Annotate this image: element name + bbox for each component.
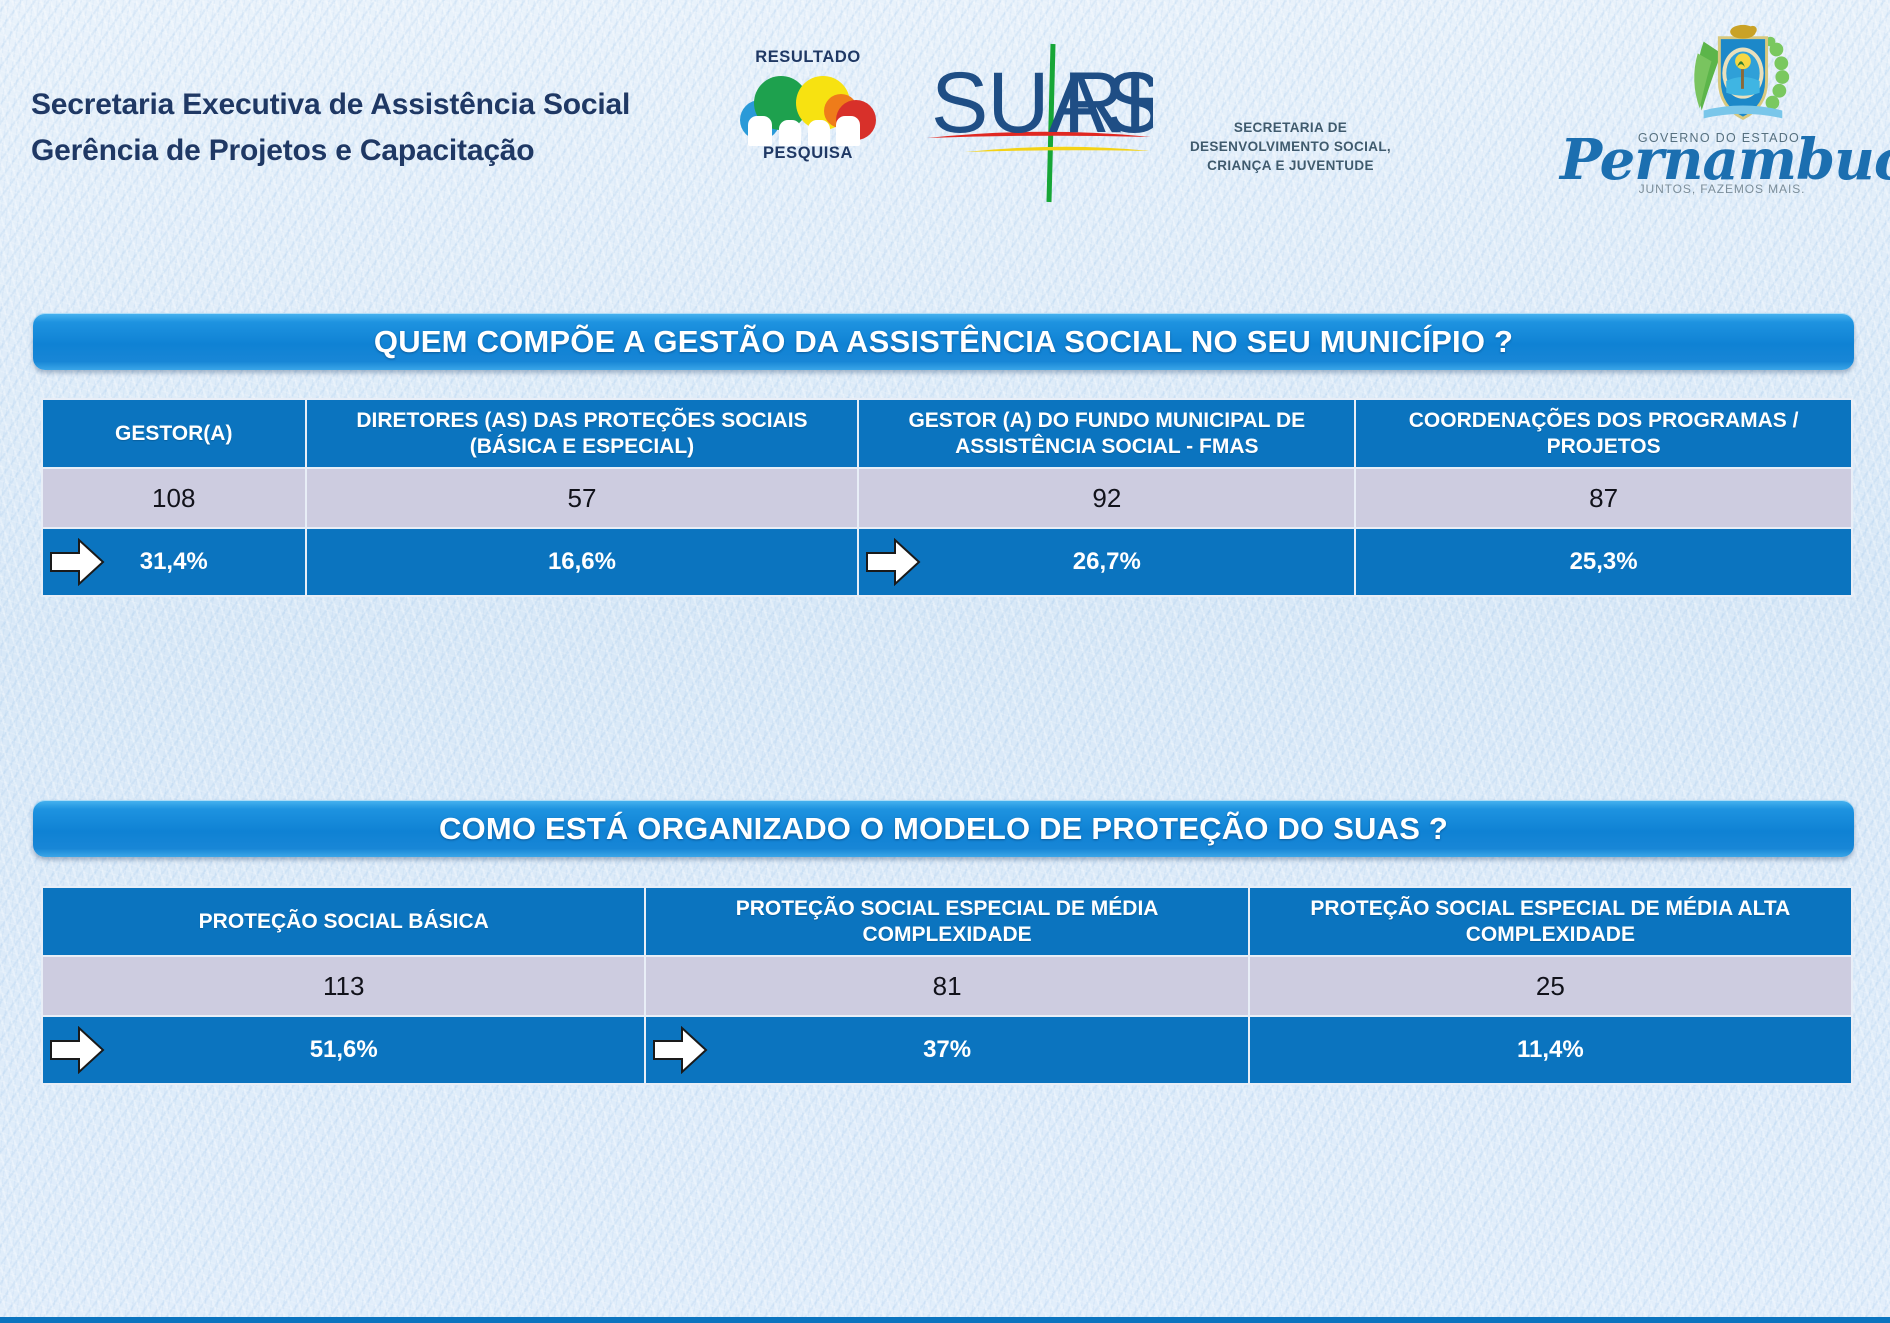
slide-header: Secretaria Executiva de Assistência Soci…: [0, 0, 1890, 240]
count-protecao-alta: 25: [1249, 956, 1852, 1016]
percent-gestor-fmas: 26,7%: [858, 528, 1355, 596]
table-row-counts: 108 57 92 87: [42, 468, 1852, 528]
percent-protecao-media: 37%: [645, 1016, 1248, 1084]
pernambuco-state-name: Pernambuco: [1560, 132, 1880, 188]
percent-protecao-basica: 51,6%: [42, 1016, 645, 1084]
pernambuco-coat-of-arms-icon: [1682, 20, 1800, 138]
table-row-percents: 31,4% 16,6% 26,7% 25,3%: [42, 528, 1852, 596]
people-circles-icon: [738, 70, 878, 142]
percent-protecao-media-value: 37%: [923, 1036, 971, 1063]
logo-pesquisa-top-word: RESULTADO: [738, 48, 878, 67]
percent-coordenacoes: 25,3%: [1355, 528, 1852, 596]
percent-gestor-value: 31,4%: [140, 548, 208, 575]
percent-coordenacoes-value: 25,3%: [1570, 548, 1638, 575]
arrow-right-icon: [49, 1026, 105, 1074]
section-title-1: QUEM COMPÕE A GESTÃO DA ASSISTÊNCIA SOCI…: [374, 324, 1513, 360]
logo-pesquisa-bottom-word: PESQUISA: [738, 144, 878, 163]
secretaria-label: SECRETARIA DE DESENVOLVIMENTO SOCIAL, CR…: [1188, 118, 1393, 175]
column-header-protecao-basica: PROTEÇÃO SOCIAL BÁSICA: [42, 887, 645, 956]
count-diretores: 57: [306, 468, 859, 528]
table-row-headers: PROTEÇÃO SOCIAL BÁSICA PROTEÇÃO SOCIAL E…: [42, 887, 1852, 956]
section-title-2: COMO ESTÁ ORGANIZADO O MODELO DE PROTEÇÃ…: [439, 811, 1448, 847]
count-gestor-fmas: 92: [858, 468, 1355, 528]
section-title-bar-1: QUEM COMPÕE A GESTÃO DA ASSISTÊNCIA SOCI…: [33, 313, 1854, 370]
count-gestor: 108: [42, 468, 306, 528]
svg-text:RH: RH: [1063, 55, 1153, 151]
table-row-percents: 51,6% 37% 11,4%: [42, 1016, 1852, 1084]
pernambuco-logo: GOVERNO DO ESTADO Pernambuco JUNTOS, FAZ…: [1392, 14, 1872, 199]
page-title: Secretaria Executiva de Assistência Soci…: [31, 82, 630, 173]
pernambuco-tagline: JUNTOS, FAZEMOS MAIS.: [1607, 182, 1837, 196]
count-coordenacoes: 87: [1355, 468, 1852, 528]
count-protecao-basica: 113: [42, 956, 645, 1016]
footer-accent-strip: [0, 1317, 1890, 1323]
column-header-diretores: DIRETORES (AS) DAS PROTEÇÕES SOCIAIS (BÁ…: [306, 399, 859, 468]
column-header-gestor-fmas: GESTOR (A) DO FUNDO MUNICIPAL DE ASSISTÊ…: [858, 399, 1355, 468]
gestao-table: GESTOR(A) DIRETORES (AS) DAS PROTEÇÕES S…: [41, 398, 1853, 597]
protecao-table: PROTEÇÃO SOCIAL BÁSICA PROTEÇÃO SOCIAL E…: [41, 886, 1853, 1085]
percent-gestor: 31,4%: [42, 528, 306, 596]
section-title-bar-2: COMO ESTÁ ORGANIZADO O MODELO DE PROTEÇÃ…: [33, 800, 1854, 857]
column-header-protecao-media: PROTEÇÃO SOCIAL ESPECIAL DE MÉDIA COMPLE…: [645, 887, 1248, 956]
column-header-coordenacoes: COORDENAÇÕES DOS PROGRAMAS / PROJETOS: [1355, 399, 1852, 468]
percent-protecao-alta-value: 11,4%: [1517, 1036, 1584, 1063]
suasrh-logo: SUAS RH: [923, 40, 1153, 205]
column-header-gestor: GESTOR(A): [42, 399, 306, 468]
resultado-pesquisa-logo: RESULTADO PESQUISA: [738, 48, 878, 163]
count-protecao-media: 81: [645, 956, 1248, 1016]
percent-diretores-value: 16,6%: [548, 548, 616, 575]
arrow-right-icon: [652, 1026, 708, 1074]
arrow-right-icon: [865, 538, 921, 586]
table-row-headers: GESTOR(A) DIRETORES (AS) DAS PROTEÇÕES S…: [42, 399, 1852, 468]
arrow-right-icon: [49, 538, 105, 586]
table-row-counts: 113 81 25: [42, 956, 1852, 1016]
percent-protecao-basica-value: 51,6%: [310, 1036, 378, 1063]
percent-gestor-fmas-value: 26,7%: [1073, 548, 1141, 575]
suasrh-cross-icon: SUAS RH: [923, 40, 1153, 205]
column-header-protecao-alta: PROTEÇÃO SOCIAL ESPECIAL DE MÉDIA ALTA C…: [1249, 887, 1852, 956]
percent-protecao-alta: 11,4%: [1249, 1016, 1852, 1084]
percent-diretores: 16,6%: [306, 528, 859, 596]
